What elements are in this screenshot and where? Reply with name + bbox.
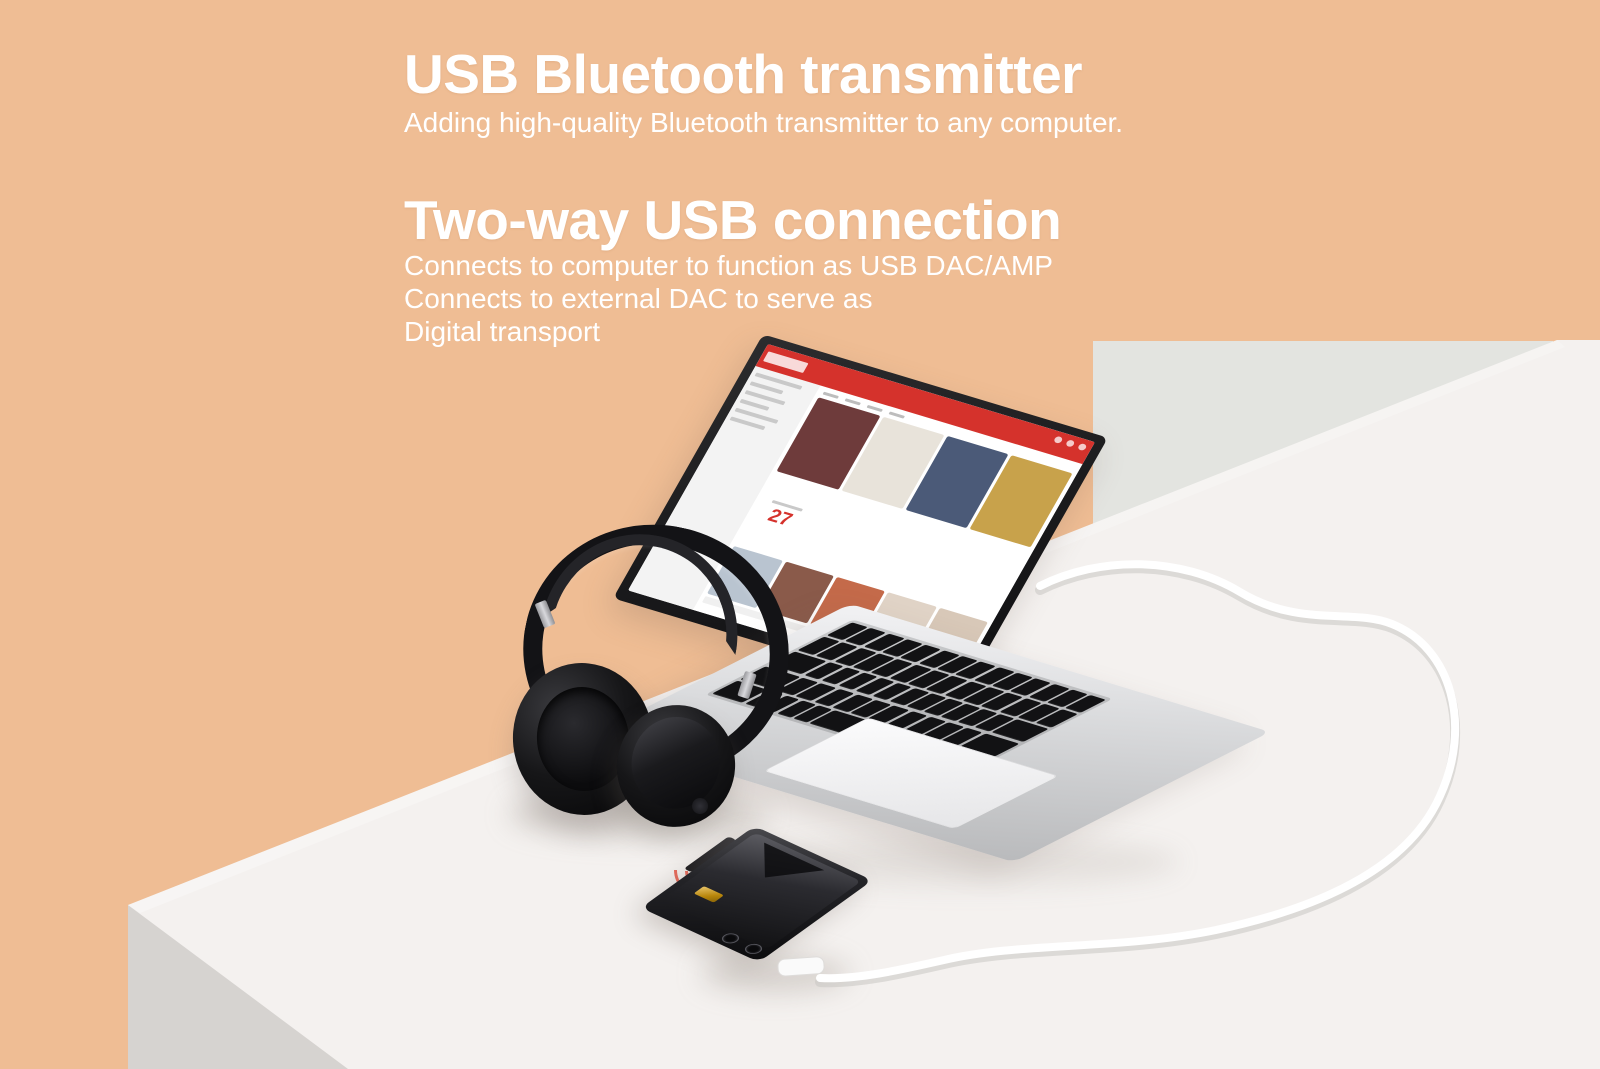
marketing-copy: USB Bluetooth transmitter Adding high-qu… [404, 46, 1254, 348]
dac-gold-badge [694, 886, 724, 903]
nav-tab[interactable] [823, 392, 840, 399]
headphones [505, 515, 795, 835]
window-control-dot[interactable] [1053, 436, 1064, 444]
product-marketing-image: USB Bluetooth transmitter Adding high-qu… [0, 0, 1600, 1069]
app-logo [763, 351, 809, 373]
nav-tab[interactable] [889, 412, 906, 419]
subheading-two-way-usb-connection: Connects to computer to function as USB … [404, 250, 1254, 348]
window-control-dot[interactable] [1065, 439, 1076, 447]
subheading-usb-bluetooth-transmitter: Adding high-quality Bluetooth transmitte… [404, 106, 1254, 139]
nav-tab[interactable] [867, 405, 884, 412]
subheading-line-1: Connects to computer to function as USB … [404, 250, 1254, 283]
copy-block-usb-bluetooth: USB Bluetooth transmitter Adding high-qu… [404, 46, 1254, 139]
window-controls [1053, 436, 1088, 451]
window-control-dot[interactable] [1077, 443, 1088, 451]
subheading-line-2: Connects to external DAC to serve as [404, 283, 1254, 316]
heading-usb-bluetooth-transmitter: USB Bluetooth transmitter [404, 46, 1254, 102]
nav-tab[interactable] [845, 399, 862, 406]
heading-two-way-usb-connection: Two-way USB connection [404, 192, 1254, 248]
copy-block-two-way-usb: Two-way USB connection Connects to compu… [404, 192, 1254, 348]
earcup-logo [690, 796, 709, 815]
subheading-line-3: Digital transport [404, 316, 1254, 349]
